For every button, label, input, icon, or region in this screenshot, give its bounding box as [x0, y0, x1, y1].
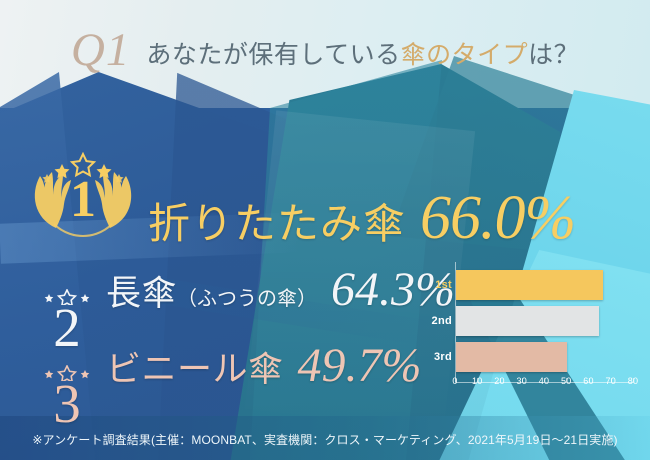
- rank-row-3: 3 ビニール傘 49.7%: [36, 338, 422, 430]
- chart-bar-2nd: [456, 306, 599, 336]
- question-number: Q1: [71, 27, 130, 80]
- laurel-wreath-icon: 1: [24, 152, 142, 238]
- rank-1-percent: 66.0%: [420, 183, 575, 254]
- chart-tick-label: 10: [472, 376, 482, 386]
- rank-2-name-main: 長傘: [106, 274, 177, 313]
- rank-1-name: 折りたたみ傘: [148, 190, 406, 251]
- question-text-suffix: は？: [528, 41, 579, 69]
- chart-tick-label: 20: [494, 376, 504, 386]
- chart-tick-label: 70: [606, 376, 616, 386]
- chart-bar-1st: [456, 270, 603, 300]
- chart-bars: 1st2nd3rd: [424, 262, 634, 372]
- survey-source-note: ※アンケート調査結果(主催：MOONBAT、実査機関：クロス・マーケティング、2…: [0, 431, 650, 448]
- chart-bar-row: 3rd: [424, 342, 567, 372]
- rank-3-name-main: ビニール傘: [106, 350, 284, 389]
- rank-3-number-group: 3: [36, 365, 98, 430]
- chart-tick-label: 0: [452, 376, 457, 386]
- chart-tick-label: 50: [561, 376, 571, 386]
- question-text-prefix: あなたが保有している: [146, 41, 400, 69]
- chart-bar-3rd: [456, 342, 567, 372]
- page-title: あなたが保有している傘のタイプは？: [146, 35, 579, 71]
- chart-tick-label: 80: [628, 376, 638, 386]
- chart-bar-label-3rd: 3rd: [424, 351, 456, 363]
- rank-2-name-sub: （ふつうの傘）: [177, 288, 317, 310]
- question-text-highlight: 傘のタイプ: [401, 41, 529, 69]
- rank-3-number: 3: [53, 378, 81, 430]
- chart-tick-label: 60: [583, 376, 593, 386]
- chart-tick-label: 40: [539, 376, 549, 386]
- rank-row-1: 1 折りたたみ傘 66.0%: [24, 152, 575, 254]
- header: Q1 あなたが保有している傘のタイプは？: [0, 0, 650, 106]
- chart-bar-row: 2nd: [424, 306, 599, 336]
- chart-bar-label-2nd: 2nd: [424, 315, 456, 327]
- chart-bar-label-1st: 1st: [424, 279, 456, 291]
- rank-3-percent: 49.7%: [298, 338, 422, 393]
- bar-chart: 1st2nd3rd 01020304050607080: [424, 262, 634, 394]
- chart-bar-row: 1st: [424, 270, 603, 300]
- chart-tick-label: 30: [517, 376, 527, 386]
- svg-text:1: 1: [70, 171, 96, 228]
- rank-3-name: ビニール傘: [106, 341, 284, 392]
- rank-2-name: 長傘（ふつうの傘）: [106, 265, 317, 316]
- infographic-root: Q1 あなたが保有している傘のタイプは？ 1 折りたたみ傘 66.0%: [0, 0, 650, 460]
